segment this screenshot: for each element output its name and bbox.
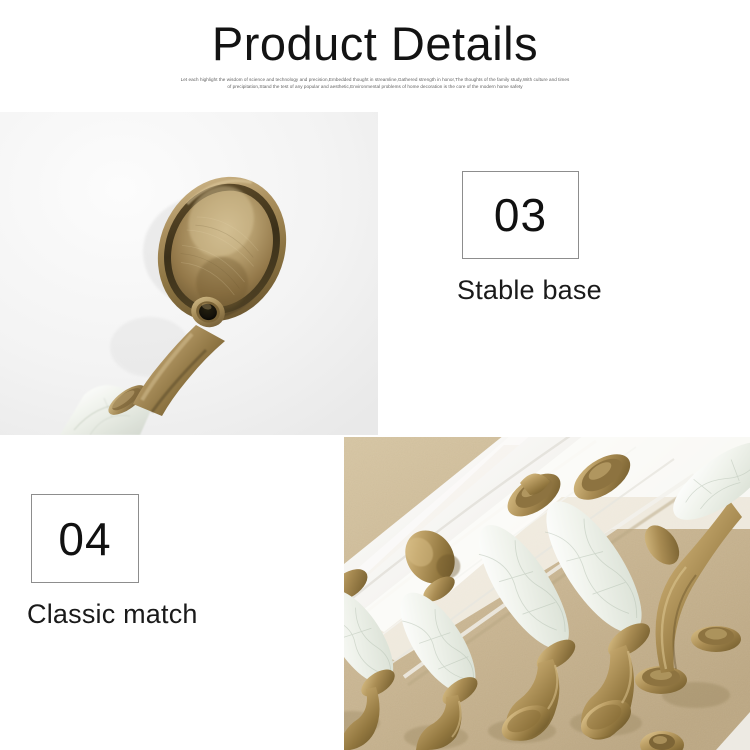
callout-number-box-03: 03 xyxy=(462,171,579,259)
product-details-page: Product Details Let each highlight the w… xyxy=(0,0,750,750)
callout-stable-base: 03 Stable base xyxy=(462,171,602,306)
callout-classic-match: 04 Classic match xyxy=(31,494,198,630)
page-header: Product Details Let each highlight the w… xyxy=(0,0,750,112)
callout-number-03: 03 xyxy=(494,192,547,238)
subtitle-block: Let each highlight the wisdom of science… xyxy=(145,76,605,91)
product-photo-closeup xyxy=(0,112,378,435)
handle-closeup-illustration xyxy=(0,112,378,435)
subtitle-line-1: Let each highlight the wisdom of science… xyxy=(145,76,605,83)
callout-label-03: Stable base xyxy=(457,275,602,306)
callout-label-04: Classic match xyxy=(27,599,198,630)
subtitle-line-2: of precipitation,Stand the test of any p… xyxy=(145,83,605,90)
callout-number-box-04: 04 xyxy=(31,494,139,583)
page-title: Product Details xyxy=(0,18,750,70)
handle-collection-illustration xyxy=(344,437,750,750)
product-photo-collection xyxy=(344,437,750,750)
callout-number-04: 04 xyxy=(58,516,111,562)
